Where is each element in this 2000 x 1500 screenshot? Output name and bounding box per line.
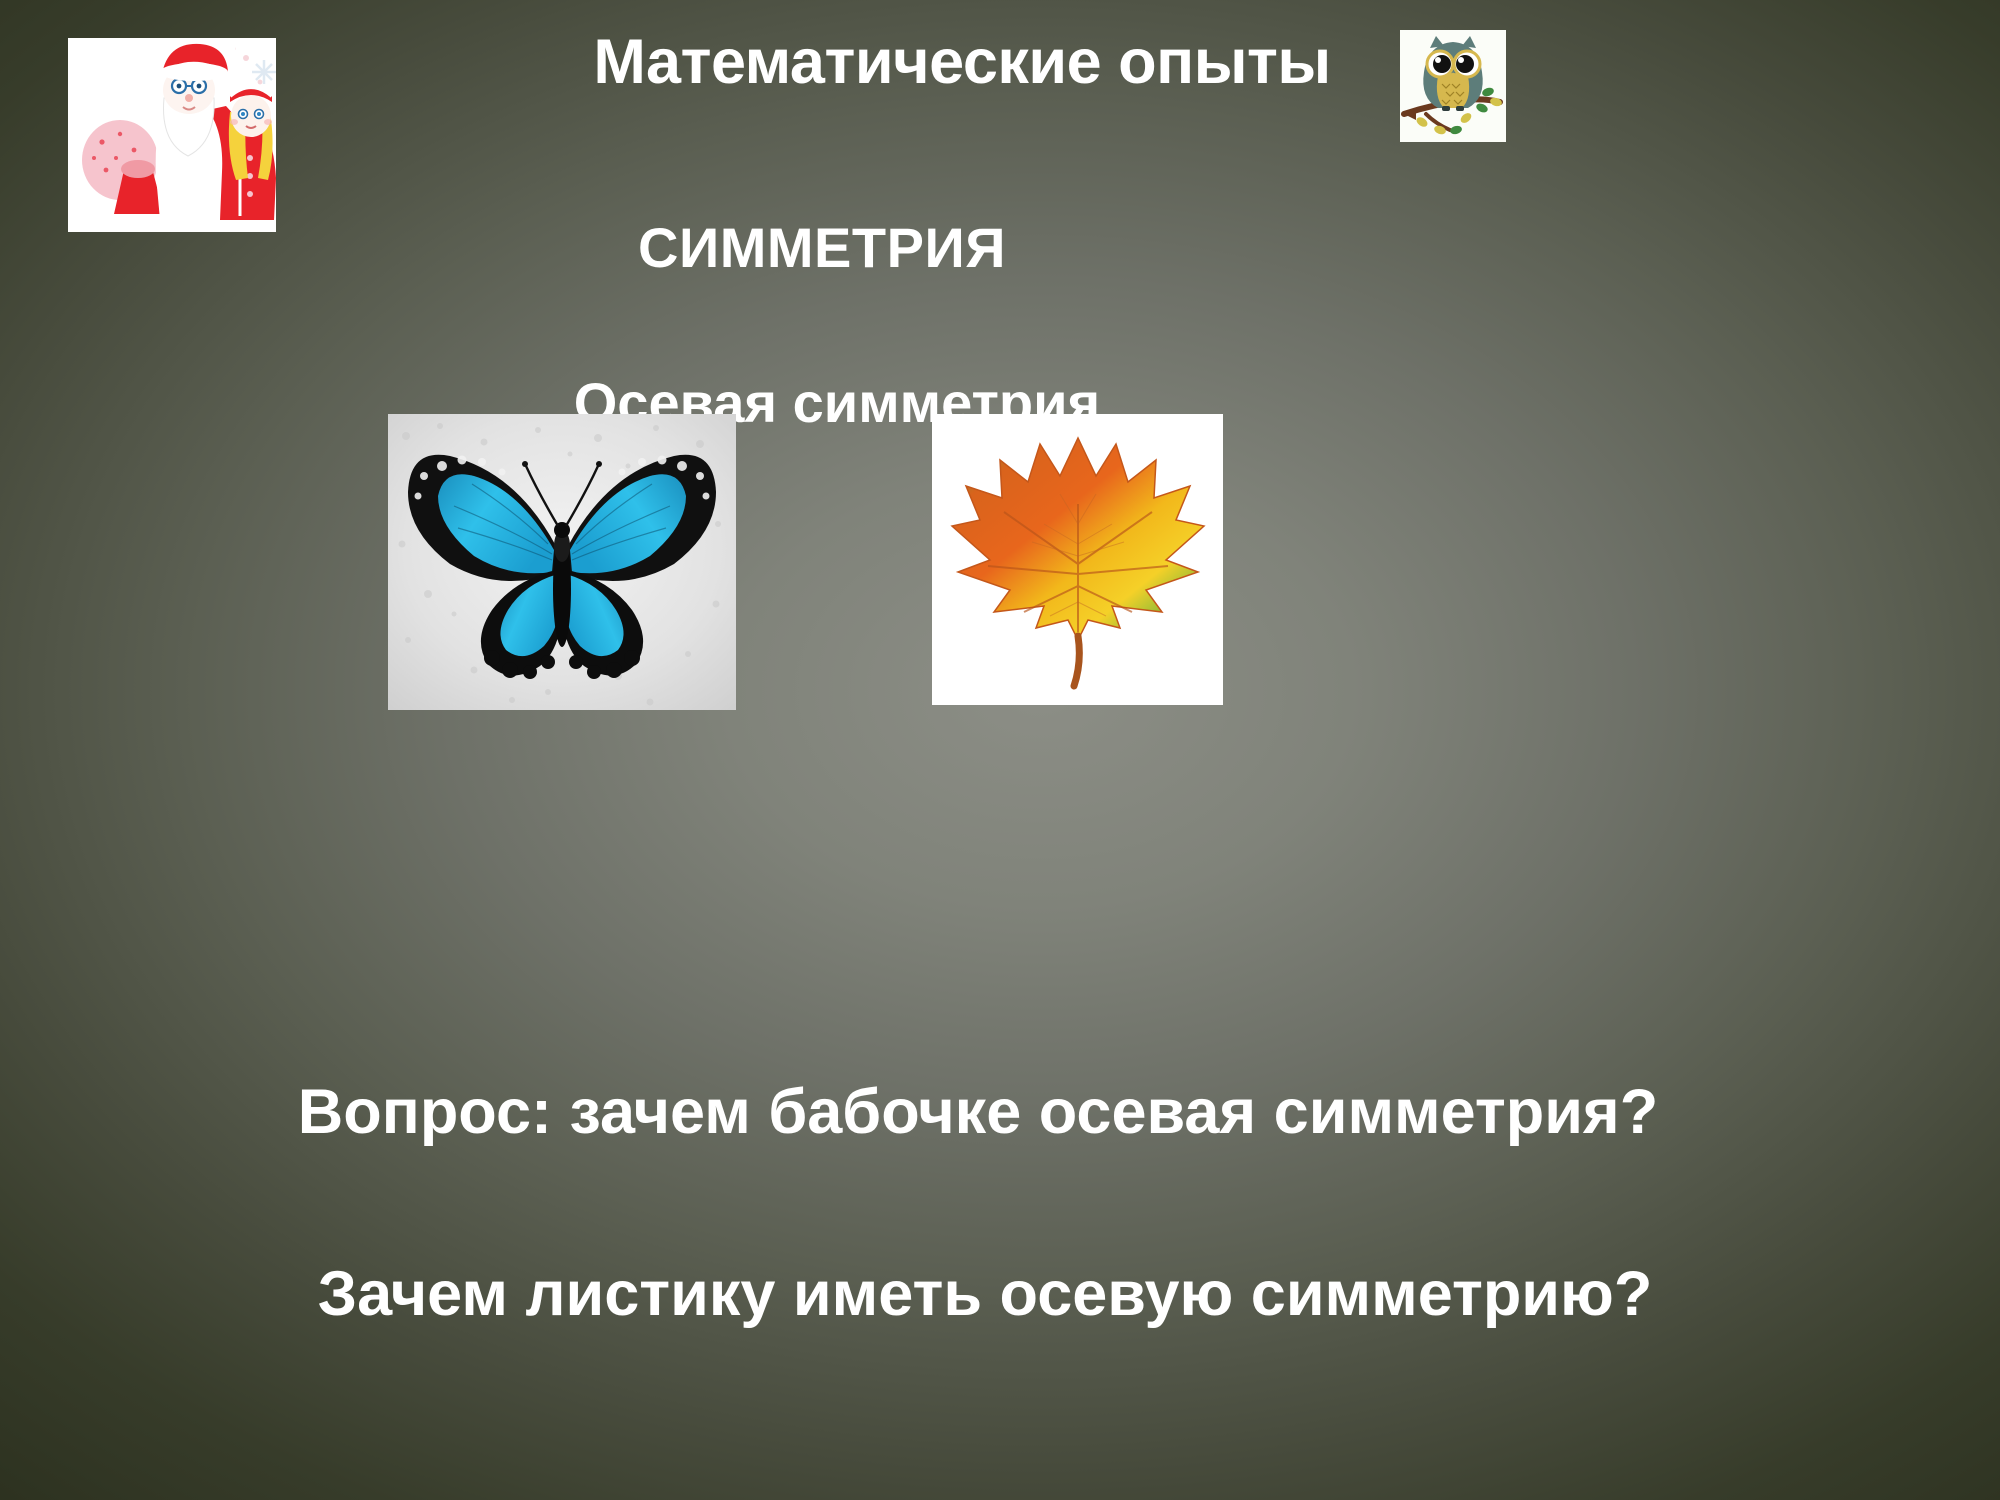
question-line-one: Вопрос: зачем бабочке осевая симметрия? <box>0 1076 1978 1148</box>
butterfly-image <box>388 414 736 710</box>
blue-morpho-butterfly-icon <box>388 414 736 710</box>
maple-leaf-image <box>932 414 1223 705</box>
slide-subtitle: СИММЕТРИЯ <box>0 215 1822 280</box>
slide-section-heading: Осевая симметрия <box>0 370 1837 435</box>
presentation-slide: Математические опыты СИММЕТРИЯ Осевая си… <box>0 0 2000 1500</box>
question-line-two: Зачем листику иметь осевую симметрию? <box>0 1258 1985 1330</box>
slide-title: Математические опыты <box>0 26 1962 98</box>
autumn-maple-leaf-icon <box>932 414 1223 705</box>
